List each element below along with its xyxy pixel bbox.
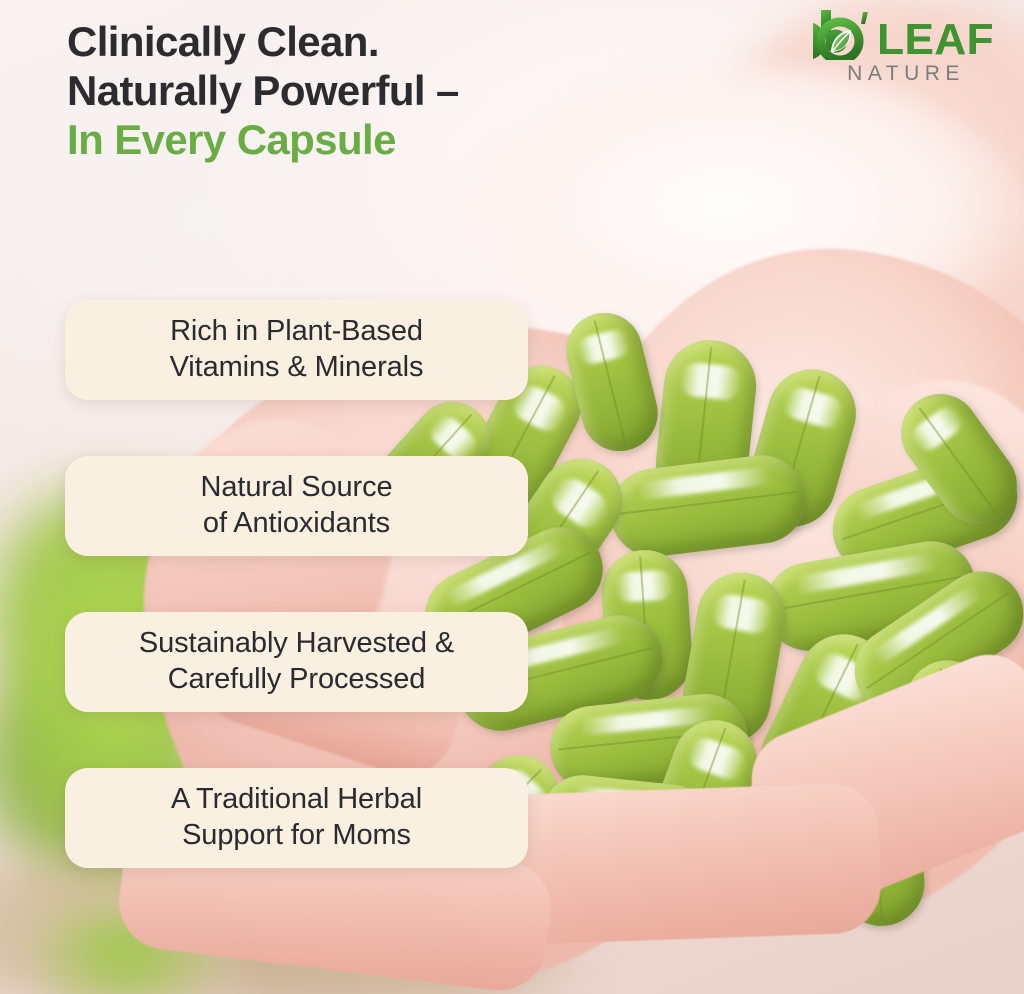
feature-pill-antioxidants[interactable]: Natural Source of Antioxidants — [65, 456, 528, 556]
b-leaf-monogram-icon — [813, 8, 879, 60]
brand-tagline: NATURE — [847, 62, 965, 86]
capsule — [605, 450, 810, 561]
brand-wordmark: LEAF — [877, 20, 994, 60]
capsule — [558, 305, 666, 459]
feature-pill-label: Natural Source of Antioxidants — [200, 470, 392, 541]
feature-pill-label: Sustainably Harvested & Carefully Proces… — [139, 626, 454, 697]
feature-pill-label: A Traditional Herbal Support for Moms — [171, 782, 422, 853]
feature-pill-label: Rich in Plant-Based Vitamins & Minerals — [170, 314, 424, 385]
feature-pill-sustainable[interactable]: Sustainably Harvested & Carefully Proces… — [65, 612, 528, 712]
feature-pill-moms-support[interactable]: A Traditional Herbal Support for Moms — [65, 768, 528, 868]
brand-logo-row: LEAF — [813, 8, 994, 60]
headline-dash: – — [425, 67, 459, 114]
headline-line-2-text: Naturally Powerful — [67, 67, 425, 114]
headline-line-3: In Every Capsule — [67, 115, 767, 164]
headline-line-1: Clinically Clean. — [67, 17, 767, 66]
headline-line-2: Naturally Powerful – — [67, 66, 767, 115]
feature-pill-vitamins-minerals[interactable]: Rich in Plant-Based Vitamins & Minerals — [65, 300, 528, 400]
headline-block: Clinically Clean. Naturally Powerful – I… — [67, 17, 767, 164]
brand-logo[interactable]: LEAF NATURE — [813, 8, 994, 86]
promo-canvas: Clinically Clean. Naturally Powerful – I… — [0, 0, 1024, 994]
